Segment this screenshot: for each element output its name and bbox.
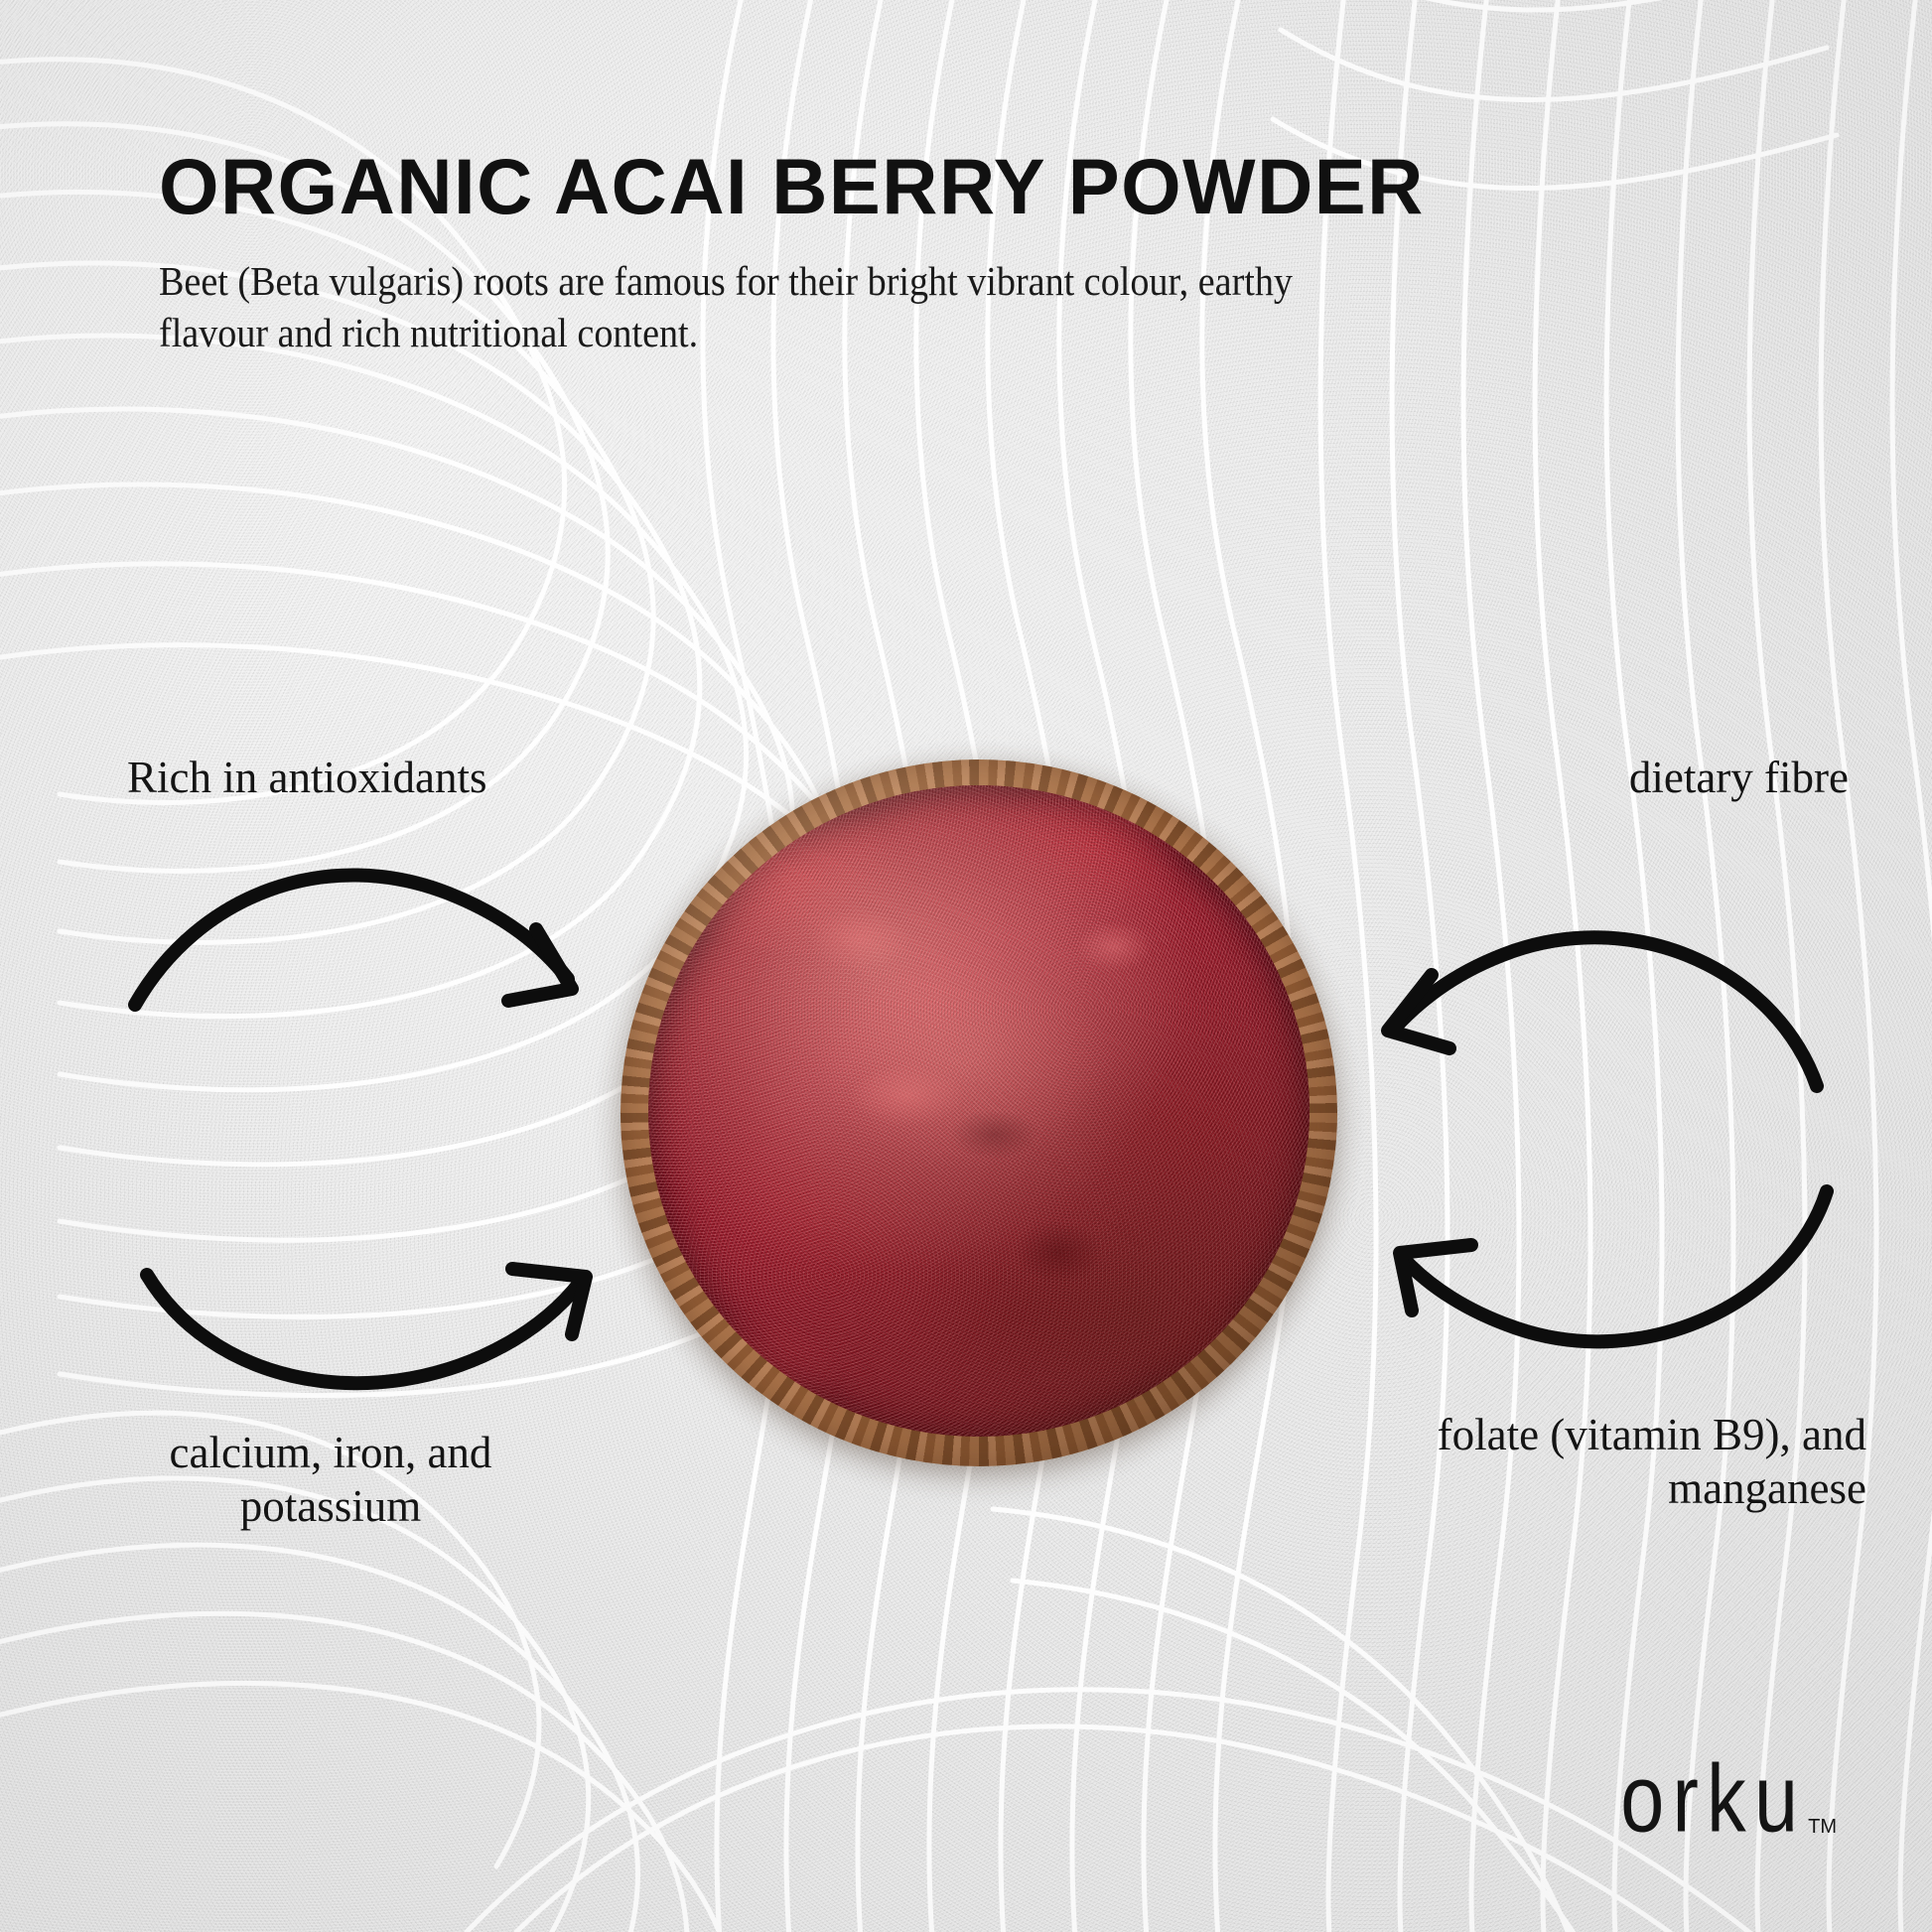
powder-inner-shading <box>648 785 1310 1437</box>
product-image-bowl-of-acai-powder <box>621 759 1337 1466</box>
brand-logo-wordmark: orku <box>1620 1751 1806 1847</box>
powder-grain-texture <box>648 785 1310 1437</box>
acai-powder-fill <box>648 785 1310 1437</box>
infographic-canvas: ORGANIC ACAI BERRY POWDER Beet (Beta vul… <box>0 0 1932 1932</box>
brand-logo: orku TM <box>1604 1761 1837 1847</box>
powder-clumps <box>648 785 1310 1437</box>
powder-colour-variation <box>648 785 1310 1437</box>
trademark-symbol: TM <box>1808 1816 1837 1839</box>
callout-calcium-iron-potassium: calcium, iron, and potassium <box>117 1426 544 1533</box>
callout-dietary-fibre: dietary fibre <box>1629 751 1849 804</box>
header-block: ORGANIC ACAI BERRY POWDER Beet (Beta vul… <box>159 147 1787 359</box>
page-subtitle: Beet (Beta vulgaris) roots are famous fo… <box>159 255 1359 359</box>
bowl-wooden-rim <box>621 759 1337 1466</box>
page-title: ORGANIC ACAI BERRY POWDER <box>159 147 1762 227</box>
callout-rich-in-antioxidants: Rich in antioxidants <box>127 751 486 804</box>
callout-folate-manganese: folate (vitamin B9), and manganese <box>1350 1408 1866 1515</box>
